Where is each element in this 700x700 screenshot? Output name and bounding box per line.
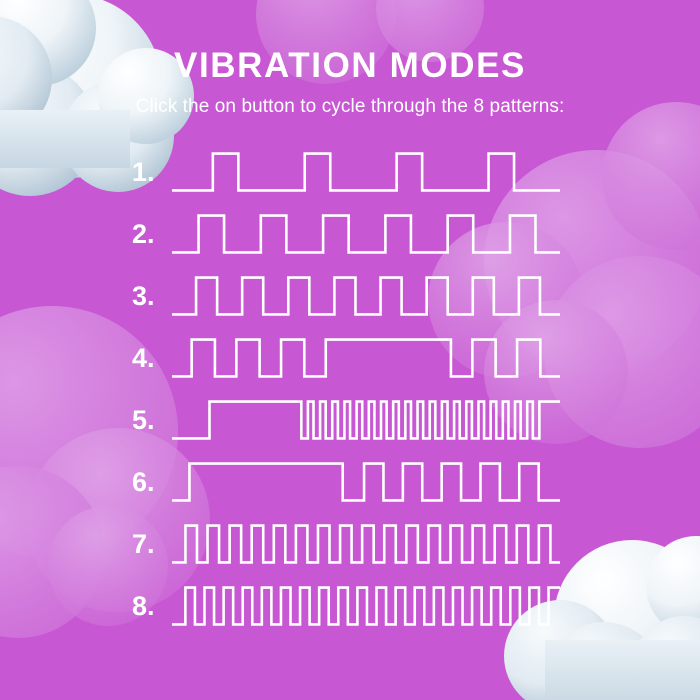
waveform [172, 209, 560, 259]
waveform [172, 271, 560, 321]
waveform-svg [172, 333, 560, 383]
pattern-number: 2. [132, 221, 172, 248]
pattern-list: 1.2.3.4.5.6.7.8. [0, 141, 700, 637]
waveform-path [172, 340, 560, 377]
waveform-svg [172, 581, 560, 631]
waveform [172, 457, 560, 507]
waveform-path [172, 402, 560, 439]
page-title: VIBRATION MODES [0, 0, 700, 83]
pattern-row[interactable]: 4. [0, 327, 700, 389]
waveform-path [172, 464, 560, 501]
waveform-path [172, 526, 560, 563]
pattern-row[interactable]: 3. [0, 265, 700, 327]
waveform-path [172, 216, 560, 253]
waveform-svg [172, 519, 560, 569]
poster-stage: VIBRATION MODES Click the on button to c… [0, 0, 700, 700]
pattern-row[interactable]: 6. [0, 451, 700, 513]
pattern-number: 1. [132, 159, 172, 186]
pattern-number: 3. [132, 283, 172, 310]
pattern-row[interactable]: 5. [0, 389, 700, 451]
pattern-row[interactable]: 1. [0, 141, 700, 203]
pattern-row[interactable]: 8. [0, 575, 700, 637]
waveform-path [172, 588, 560, 625]
waveform [172, 147, 560, 197]
waveform-svg [172, 209, 560, 259]
pattern-number: 6. [132, 469, 172, 496]
pattern-number: 5. [132, 407, 172, 434]
pattern-row[interactable]: 7. [0, 513, 700, 575]
waveform-svg [172, 395, 560, 445]
waveform-svg [172, 457, 560, 507]
pattern-number: 7. [132, 531, 172, 558]
pattern-number: 8. [132, 593, 172, 620]
pattern-row[interactable]: 2. [0, 203, 700, 265]
waveform-svg [172, 147, 560, 197]
waveform-svg [172, 271, 560, 321]
waveform-path [172, 154, 560, 191]
waveform-path [172, 278, 560, 315]
header: VIBRATION MODES Click the on button to c… [0, 0, 700, 116]
page-subtitle: Click the on button to cycle through the… [0, 83, 700, 116]
waveform [172, 581, 560, 631]
waveform [172, 395, 560, 445]
waveform [172, 333, 560, 383]
waveform [172, 519, 560, 569]
pattern-number: 4. [132, 345, 172, 372]
